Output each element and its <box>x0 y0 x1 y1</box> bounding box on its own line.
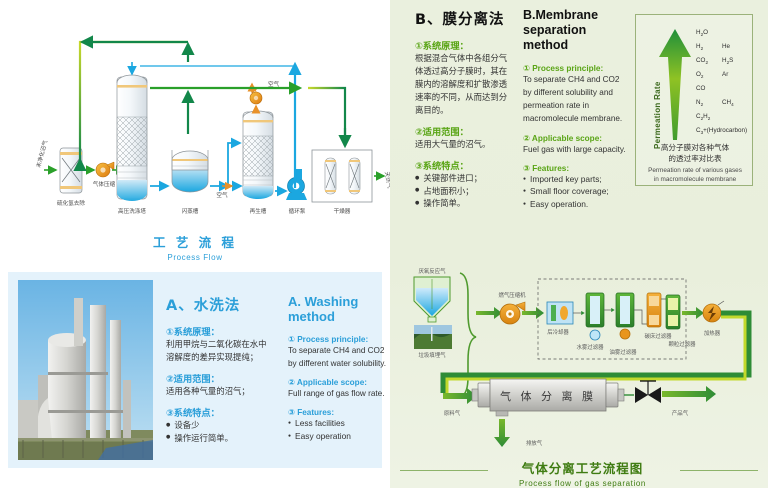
gas-right: Ar <box>722 71 728 78</box>
label-air-bottom: 空气 <box>216 191 228 199</box>
caption-en-line1: Permeation rate of various gases <box>640 167 750 176</box>
permeation-caption: 高分子膜对各种气体 的透过率对比表 Permeation rate of var… <box>640 143 750 185</box>
block-head: ②适用范围： <box>415 124 515 138</box>
label-flash-tank: 闪蒸槽 <box>182 207 199 215</box>
outlet-label: 天然气 <box>383 171 390 189</box>
gas-separation-caption: 气体分离工艺流程图 Process flow of gas separation <box>490 458 675 488</box>
block-head: ③ Features: <box>288 407 388 417</box>
label-h2s-removal: 硫化氢去除 <box>57 199 85 207</box>
washing-cn-column: A、水洗法 ①系统原理： 利用甲烷与二氧化碳在水中溶解度的差异实现提纯； ②适用… <box>166 294 274 451</box>
gas-left: H2O <box>696 29 708 36</box>
washing-method-panel: A、水洗法 ①系统原理： 利用甲烷与二氧化碳在水中溶解度的差异实现提纯； ②适用… <box>0 268 390 488</box>
block-body: 适用大气量的沼气。 <box>415 138 515 151</box>
gas-row: CO <box>696 85 754 99</box>
block-body: To separate CH4 and CO2 by different sol… <box>523 73 628 126</box>
process-flow-panel: 未净化沼气 硫化氢去除 气体压缩 <box>0 0 390 268</box>
block-body: Full range of gas flow rate. <box>288 387 388 400</box>
equipment-valve <box>624 381 661 403</box>
caption-cn-line1: 高分子膜对各种气体 <box>640 143 750 154</box>
equipment-circulation-pump: 循环泵 <box>286 169 307 215</box>
label-regeneration-tank: 再生槽 <box>250 207 267 215</box>
gas-row: O2Ar <box>696 71 754 85</box>
block-body: 根据混合气体中各组分气体透过高分子膜时，其在膜内的溶解度和扩散渗透速率的不同，从… <box>415 52 515 117</box>
washing-en-block-2: ② Applicable scope: Full range of gas fl… <box>288 377 388 400</box>
label-feed-gas: 原料气 <box>444 409 461 417</box>
poster-root: 未净化沼气 硫化氢去除 气体压缩 <box>0 0 768 488</box>
caption-rule-right <box>680 470 758 471</box>
permeation-rate-card: Permeation Rate H2O H2He CO2H2S O <box>635 14 753 186</box>
gas-right: He <box>722 43 730 50</box>
equipment-washing-tower: 高压洗涤塔 <box>117 75 147 215</box>
equipment-dryer: 干燥器 <box>312 150 372 215</box>
membrane-title-cn: B、膜分离法 <box>415 8 515 29</box>
block-body: 利用甲烷与二氧化碳在水中溶解度的差异实现提纯； <box>166 338 274 364</box>
gas-left: H2 <box>696 43 703 50</box>
list-item: Less facilities <box>288 417 388 430</box>
block-head: ① Process principle: <box>523 63 628 73</box>
gas-right: H2S <box>722 57 733 64</box>
label-source-2: 垃圾填埋气 <box>419 351 447 359</box>
label-compressor: 燃气压缩机 <box>499 291 527 299</box>
inlet-label: 未净化沼气 <box>34 139 49 168</box>
equipment-flash-tank: 闪蒸槽 <box>172 150 208 215</box>
list-item: Imported key parts; <box>523 173 628 186</box>
label-water-mist-filter: 水雾过滤器 <box>577 343 605 351</box>
caption-cn: 工 艺 流 程 <box>130 232 260 251</box>
membrane-en-column: B.Membrane separation method ① Process p… <box>523 8 628 217</box>
gas-left: N2 <box>696 99 703 106</box>
list-item: 设备少 <box>166 419 274 432</box>
process-flow-diagram: 未净化沼气 硫化氢去除 气体压缩 <box>0 0 390 230</box>
washing-title-en: A. Washing method <box>288 294 388 324</box>
block-head: ③系统特点： <box>166 405 274 419</box>
caption-rule-left <box>400 470 488 471</box>
label-circulation-pump: 循环泵 <box>289 207 306 215</box>
gas-left: CO <box>696 85 705 92</box>
gas-row: H2He <box>696 43 754 57</box>
label-vent-gas: 排放气 <box>526 439 543 447</box>
label-heater: 加热器 <box>704 329 721 337</box>
source-anaerobic-digester: 厌氧反应气 <box>414 267 450 322</box>
block-head: ① Process principle: <box>288 334 388 344</box>
list-item: Easy operation <box>288 430 388 443</box>
gas-row: H2O <box>696 29 754 43</box>
label-oil-mist-filter: 油雾过滤器 <box>610 348 638 356</box>
washing-cn-block-3: ③系统特点： 设备少 操作运行简单。 <box>166 405 274 444</box>
list-item: 占地面积小； <box>415 185 515 198</box>
process-flow-caption: 工 艺 流 程 Process Flow <box>130 232 260 262</box>
block-head: ②适用范围： <box>166 371 274 385</box>
label-washing-tower: 高压洗涤塔 <box>118 207 146 215</box>
equipment-water-mist-filter: 水雾过滤器 <box>577 293 605 351</box>
equipment-gas-compressor: 气体压缩 <box>93 162 116 188</box>
label-gas-compressor: 气体压缩 <box>93 180 116 188</box>
membrane-panel: B、膜分离法 ①系统原理： 根据混合气体中各组分气体透过高分子膜时，其在膜内的溶… <box>390 0 768 488</box>
caption-en: Process Flow <box>130 253 260 262</box>
label-air-top: 空气 <box>268 80 280 88</box>
gas-row: C2H2 <box>696 113 754 127</box>
washing-title-cn: A、水洗法 <box>166 294 274 315</box>
gas-right: CH4 <box>722 99 734 106</box>
list-item: 关键部件进口； <box>415 172 515 185</box>
washing-en-block-1: ① Process principle: To separate CH4 and… <box>288 334 388 370</box>
equipment-membrane-module: 气 体 分 离 膜 <box>472 379 624 416</box>
caption-cn: 气体分离工艺流程图 <box>490 458 675 477</box>
label-product-gas: 产品气 <box>672 409 689 417</box>
equipment-oil-mist-filter: 油雾过滤器 <box>610 293 638 356</box>
label-after-cooler: 后冷却器 <box>547 328 569 336</box>
gas-list: H2O H2He CO2H2S O2Ar CO N2CH4 C2H2 C3+(H… <box>696 29 754 141</box>
gas-separation-diagram: 厌氧反应气 垃圾填埋气 燃气压缩机 <box>390 255 768 460</box>
block-head: ①系统原理： <box>166 324 274 338</box>
block-body: To separate CH4 and CO2 by different wat… <box>288 344 388 370</box>
permeation-axis-label: Permeation Rate <box>642 31 656 151</box>
caption-en: Process flow of gas separation <box>490 479 675 488</box>
washing-card: A、水洗法 ①系统原理： 利用甲烷与二氧化碳在水中溶解度的差异实现提纯； ②适用… <box>8 272 382 468</box>
equipment-regeneration-tank: 再生槽 <box>243 111 273 215</box>
label-membrane-module: 气 体 分 离 膜 <box>500 389 596 403</box>
block-head: ② Applicable scope: <box>288 377 388 387</box>
gas-row: N2CH4 <box>696 99 754 113</box>
caption-en-line2: in macromolecule membrane <box>640 176 750 185</box>
washing-en-column: A. Washing method ① Process principle: T… <box>288 294 388 450</box>
block-head: ② Applicable scope: <box>523 133 628 143</box>
gas-left: O2 <box>696 71 703 78</box>
membrane-title-en: B.Membrane separation method <box>523 8 628 53</box>
source-landfill-gas: 垃圾填埋气 <box>414 325 452 359</box>
membrane-cn-block-1: ①系统原理： 根据混合气体中各组分气体透过高分子膜时，其在膜内的溶解度和扩散渗透… <box>415 38 515 117</box>
washing-cn-block-1: ①系统原理： 利用甲烷与二氧化碳在水中溶解度的差异实现提纯； <box>166 324 274 364</box>
membrane-cn-column: B、膜分离法 ①系统原理： 根据混合气体中各组分气体透过高分子膜时，其在膜内的溶… <box>415 8 515 217</box>
gas-left: C3+(Hydrocarbon) <box>696 127 747 134</box>
label-particle-filter: 颗粒过滤器 <box>669 340 697 348</box>
block-head: ③ Features: <box>523 163 628 173</box>
label-dryer: 干燥器 <box>334 207 351 215</box>
equipment-after-cooler: 后冷却器 <box>547 302 573 336</box>
gas-left: CO2 <box>696 57 708 64</box>
membrane-cn-block-3: ③系统特点： 关键部件进口； 占地面积小； 操作简单。 <box>415 158 515 210</box>
equipment-gas-compressor-2: 燃气压缩机 <box>499 291 527 324</box>
membrane-en-block-3: ③ Features: Imported key parts; Small fl… <box>523 163 628 211</box>
caption-cn-line2: 的透过率对比表 <box>640 154 750 165</box>
list-item: 操作简单。 <box>415 197 515 210</box>
membrane-cn-block-2: ②适用范围： 适用大气量的沼气。 <box>415 124 515 151</box>
equipment-air-blower: 空气 <box>250 80 280 112</box>
label-carbon-bed-filter: 碳床过滤器 <box>645 332 673 340</box>
list-item: Small floor coverage; <box>523 185 628 198</box>
equipment-particle-filter: 颗粒过滤器 <box>666 295 696 348</box>
block-body: Fuel gas with large capacity. <box>523 143 628 156</box>
block-head: ①系统原理： <box>415 38 515 52</box>
list-item: Easy operation. <box>523 198 628 211</box>
washing-en-block-3: ③ Features: Less facilities Easy operati… <box>288 407 388 442</box>
block-body: 适用各种气量的沼气； <box>166 385 274 398</box>
washing-cn-block-2: ②适用范围： 适用各种气量的沼气； <box>166 371 274 398</box>
block-head: ③系统特点： <box>415 158 515 172</box>
equipment-h2s-removal: 硫化氢去除 <box>57 148 85 207</box>
permeation-arrow <box>658 27 692 142</box>
membrane-en-block-2: ② Applicable scope: Fuel gas with large … <box>523 133 628 156</box>
label-source-1: 厌氧反应气 <box>419 267 447 275</box>
equipment-heater: 加热器 <box>703 301 724 337</box>
list-item: 操作运行简单。 <box>166 432 274 445</box>
gas-left: C2H2 <box>696 113 710 120</box>
membrane-en-block-1: ① Process principle: To separate CH4 and… <box>523 63 628 126</box>
gas-row: C3+(Hydrocarbon) <box>696 127 754 141</box>
gas-row: CO2H2S <box>696 57 754 71</box>
plant-photo <box>18 280 153 460</box>
